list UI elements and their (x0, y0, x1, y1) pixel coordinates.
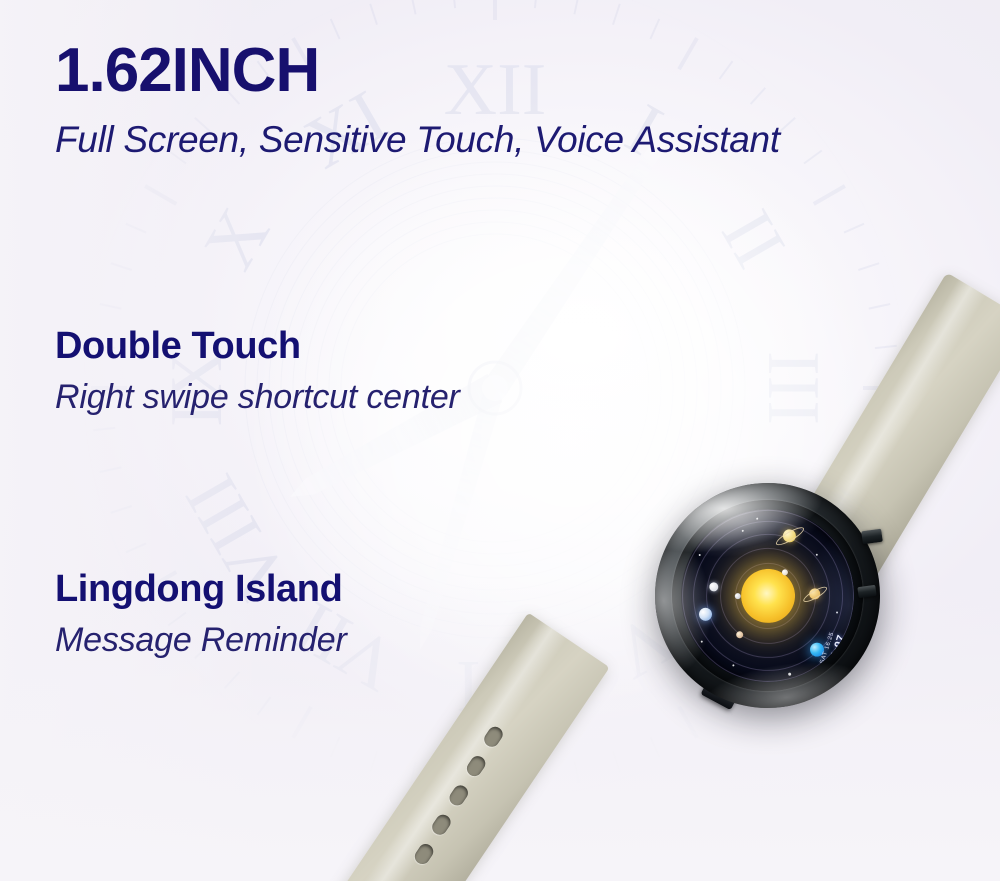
star (742, 530, 744, 532)
svg-text:IV: IV (698, 483, 808, 592)
orbit-ring (748, 576, 786, 614)
star (788, 672, 791, 675)
screen-glare (670, 498, 865, 693)
planet-mars (736, 631, 744, 639)
feature-title: Double Touch (55, 325, 460, 369)
strap-sheen (788, 279, 986, 579)
orbit-ring (713, 541, 821, 649)
strap-hole (481, 724, 505, 750)
svg-text:VI: VI (456, 645, 534, 727)
watch-crown-button[interactable] (861, 529, 883, 545)
case-gloss (640, 468, 894, 722)
watch-side-button[interactable] (857, 585, 876, 598)
star (816, 554, 818, 556)
orbit-ring (730, 558, 805, 633)
star (699, 554, 701, 556)
svg-text:V: V (600, 597, 687, 695)
planet-saturn (809, 588, 821, 600)
orbit-ring (697, 525, 837, 665)
strap-hole (412, 841, 436, 867)
headline-block: 1.62INCH Full Screen, Sensitive Touch, V… (55, 38, 935, 161)
strap-hole (447, 783, 471, 809)
watch-face-clock: 02:51:07 (822, 634, 848, 683)
watch-strap-lower (333, 613, 610, 881)
svg-text:X: X (188, 195, 286, 282)
watch-case: SAT 16.25 02:51:07 (640, 468, 894, 722)
watch-lug (700, 681, 737, 710)
feature-banner: XIIIIIIIIIVVVIVIIVIIIIXXXI (0, 0, 1000, 881)
planet-neptune (809, 642, 825, 658)
feature-double-touch: Double Touch Right swipe shortcut center (55, 325, 460, 417)
planet-mercury (734, 593, 741, 600)
orbit-ring (670, 498, 864, 692)
watch-face-time-block: SAT 16.25 02:51:07 (815, 631, 848, 682)
watermark-bloom (250, 140, 890, 760)
watch-face-date: SAT 16.25 (815, 631, 835, 678)
strap-hole (429, 812, 453, 838)
watch-strap-upper (777, 272, 1000, 604)
orbit-ring (683, 511, 852, 680)
watch-screen[interactable]: SAT 16.25 02:51:07 (670, 498, 865, 693)
star (756, 518, 758, 520)
planet-uranus (782, 569, 789, 576)
planet-earth (698, 607, 713, 622)
bezel-knurling (644, 472, 891, 719)
strap-sheen (344, 620, 567, 881)
sun (737, 565, 798, 626)
planet-venus (709, 582, 719, 592)
page-title: 1.62INCH (55, 38, 935, 103)
feature-subtitle: Right swipe shortcut center (55, 378, 460, 417)
feature-title: Lingdong Island (55, 568, 347, 612)
svg-text:II: II (705, 197, 801, 281)
feature-subtitle: Message Reminder (55, 621, 347, 660)
strap-hole (464, 753, 488, 779)
star (836, 611, 838, 613)
watch-bezel (660, 488, 876, 704)
svg-text:III: III (752, 351, 834, 425)
star (701, 640, 703, 642)
page-subtitle: Full Screen, Sensitive Touch, Voice Assi… (55, 119, 935, 161)
planet-jupiter (782, 529, 797, 544)
star (732, 664, 734, 666)
feature-lingdong-island: Lingdong Island Message Reminder (55, 568, 347, 660)
